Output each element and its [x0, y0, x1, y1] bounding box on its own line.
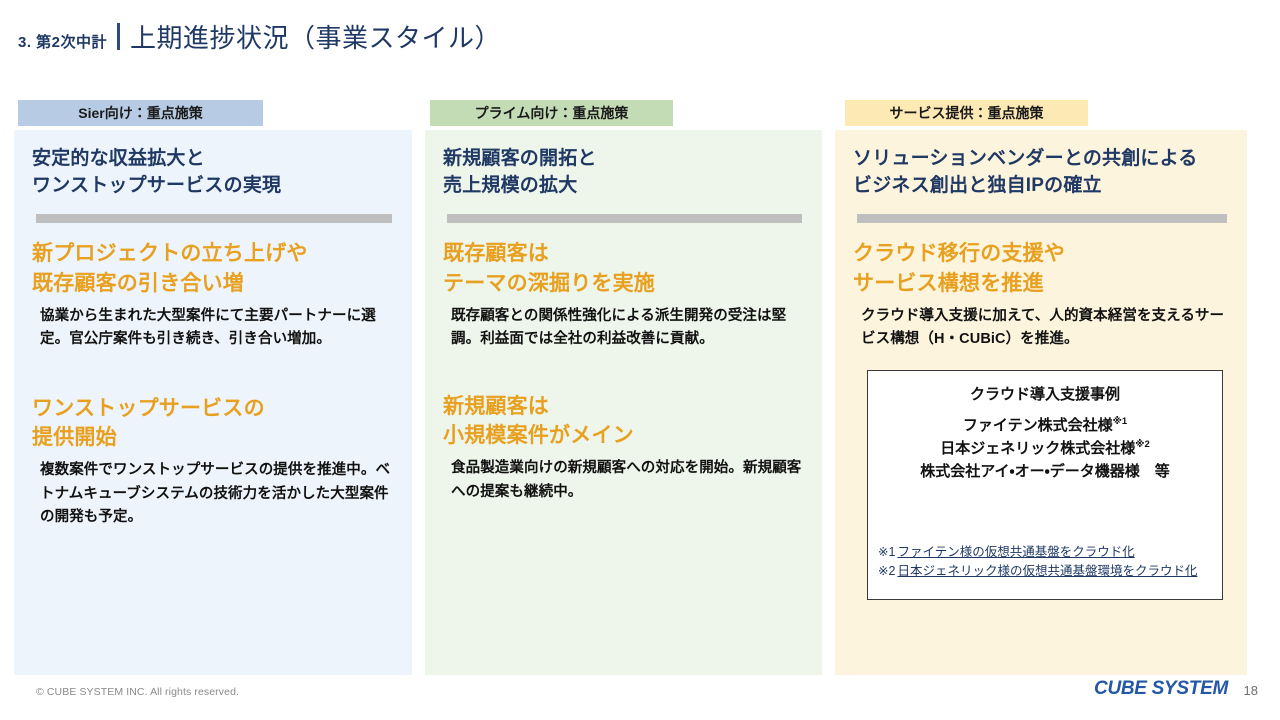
- block-title-line: 新プロジェクトの立ち上げや: [32, 239, 394, 269]
- case-study-item-name: 株式会社アイ・オー・データ機器様 等: [920, 463, 1169, 480]
- block-title: 新規顧客は 小規模案件がメイン: [443, 392, 804, 452]
- panel-heading-line: 安定的な収益拡大と: [32, 146, 394, 173]
- panel-heading-line: ソリューションベンダーとの共創による: [853, 146, 1229, 173]
- block-spacer: [443, 358, 804, 392]
- block-body: 複数案件でワンストップサービスの提供を推進中。ベトナムキューブシステムの技術力を…: [32, 459, 394, 529]
- panel-heading-line: 売上規模の拡大: [443, 173, 804, 200]
- block-body: 食品製造業向けの新規顧客への対応を開始。新規顧客への提案も継続中。: [443, 457, 804, 504]
- case-study-item: 株式会社アイ・オー・データ機器様 等: [878, 460, 1212, 483]
- block-title-line: 既存顧客は: [443, 239, 804, 269]
- content-block: 新プロジェクトの立ち上げや 既存顧客の引き合い増 協業から生まれた大型案件にて主…: [32, 239, 394, 352]
- block-title-line: テーマの深掘りを実施: [443, 269, 804, 299]
- page-number: 18: [1244, 683, 1258, 698]
- column-tab-service[interactable]: サービス提供：重点施策: [845, 100, 1088, 126]
- footnote-mark: ※2: [878, 564, 895, 578]
- content-block: ワンストップサービスの 提供開始 複数案件でワンストップサービスの提供を推進中。…: [32, 394, 394, 530]
- case-study-box: クラウド導入支援事例 ファイテン株式会社様※1 日本ジェネリック株式会社様※2 …: [867, 370, 1223, 600]
- block-title-line: サービス構想を推進: [853, 269, 1229, 299]
- column-panel-sier: 安定的な収益拡大と ワンストップサービスの実現 新プロジェクトの立ち上げや 既存…: [14, 130, 412, 675]
- block-title-line: 新規顧客は: [443, 392, 804, 422]
- content-block: 既存顧客は テーマの深掘りを実施 既存顧客との関係性強化による派生開発の受注は堅…: [443, 239, 804, 352]
- footnote-link[interactable]: 日本ジェネリック様の仮想共通基盤環境をクラウド化: [897, 564, 1197, 578]
- content-block: 新規顧客は 小規模案件がメイン 食品製造業向けの新規顧客への対応を開始。新規顧客…: [443, 392, 804, 505]
- column-panel-prime: 新規顧客の開拓と 売上規模の拡大 既存顧客は テーマの深掘りを実施 既存顧客との…: [425, 130, 822, 675]
- case-study-footnotes: ※1ファイテン様の仮想共通基盤をクラウド化 ※2日本ジェネリック様の仮想共通基盤…: [878, 543, 1197, 581]
- panel-heading-line: ビジネス創出と独自IPの確立: [853, 173, 1229, 200]
- case-study-item-name: 日本ジェネリック株式会社様: [940, 440, 1135, 457]
- footnote-mark: ※1: [878, 545, 895, 559]
- block-body: 既存顧客との関係性強化による派生開発の受注は堅調。利益面では全社の利益改善に貢献…: [443, 305, 804, 352]
- title-divider-bar: [117, 23, 120, 50]
- block-title-line: 小規模案件がメイン: [443, 421, 804, 451]
- panel-heading: ソリューションベンダーとの共創による ビジネス創出と独自IPの確立: [853, 146, 1229, 200]
- footnote-row: ※1ファイテン様の仮想共通基盤をクラウド化: [878, 543, 1197, 562]
- panel-heading: 新規顧客の開拓と 売上規模の拡大: [443, 146, 804, 200]
- case-study-item-mark: ※2: [1135, 439, 1150, 450]
- block-spacer: [32, 358, 394, 394]
- panel-heading-line: ワンストップサービスの実現: [32, 173, 394, 200]
- column-tab-prime[interactable]: プライム向け：重点施策: [430, 100, 673, 126]
- title-main-text: 上期進捗状況（事業スタイル）: [130, 18, 501, 55]
- footnote-link[interactable]: ファイテン様の仮想共通基盤をクラウド化: [897, 545, 1134, 559]
- case-study-item: 日本ジェネリック株式会社様※2: [878, 437, 1212, 460]
- case-study-item-mark: ※1: [1113, 416, 1128, 427]
- panel-heading-line: 新規顧客の開拓と: [443, 146, 804, 173]
- company-logo: CUBE SYSTEM: [1094, 678, 1228, 700]
- column-tab-sier[interactable]: Sier向け：重点施策: [18, 100, 263, 126]
- title-prefix: 3. 第2次中計: [18, 31, 107, 52]
- case-study-item: ファイテン株式会社様※1: [878, 414, 1212, 437]
- footnote-row: ※2日本ジェネリック様の仮想共通基盤環境をクラウド化: [878, 562, 1197, 581]
- page-title: 3. 第2次中計 上期進捗状況（事業スタイル）: [18, 18, 501, 55]
- case-study-title: クラウド導入支援事例: [878, 383, 1212, 404]
- block-title: 既存顧客は テーマの深掘りを実施: [443, 239, 804, 299]
- panel-heading: 安定的な収益拡大と ワンストップサービスの実現: [32, 146, 394, 200]
- block-title-line: クラウド移行の支援や: [853, 239, 1229, 269]
- section-divider: [447, 214, 802, 223]
- block-title-line: 既存顧客の引き合い増: [32, 269, 394, 299]
- block-title-line: 提供開始: [32, 423, 394, 453]
- block-body: 協業から生まれた大型案件にて主要パートナーに選定。官公庁案件も引き続き、引き合い…: [32, 305, 394, 352]
- section-divider: [857, 214, 1227, 223]
- footer-copyright: © CUBE SYSTEM INC. All rights reserved.: [36, 686, 239, 698]
- block-title: 新プロジェクトの立ち上げや 既存顧客の引き合い増: [32, 239, 394, 299]
- case-study-item-name: ファイテン株式会社様: [963, 417, 1113, 434]
- block-title-line: ワンストップサービスの: [32, 394, 394, 424]
- section-divider: [36, 214, 392, 223]
- case-study-list: ファイテン株式会社様※1 日本ジェネリック株式会社様※2 株式会社アイ・オー・デ…: [878, 414, 1212, 484]
- content-block: クラウド移行の支援や サービス構想を推進 クラウド導入支援に加えて、人的資本経営…: [853, 239, 1229, 352]
- block-title: クラウド移行の支援や サービス構想を推進: [853, 239, 1229, 299]
- block-body: クラウド導入支援に加えて、人的資本経営を支えるサービス構想（H・CUBiC）を推…: [853, 305, 1229, 352]
- block-title: ワンストップサービスの 提供開始: [32, 394, 394, 454]
- column-panel-service: ソリューションベンダーとの共創による ビジネス創出と独自IPの確立 クラウド移行…: [835, 130, 1247, 675]
